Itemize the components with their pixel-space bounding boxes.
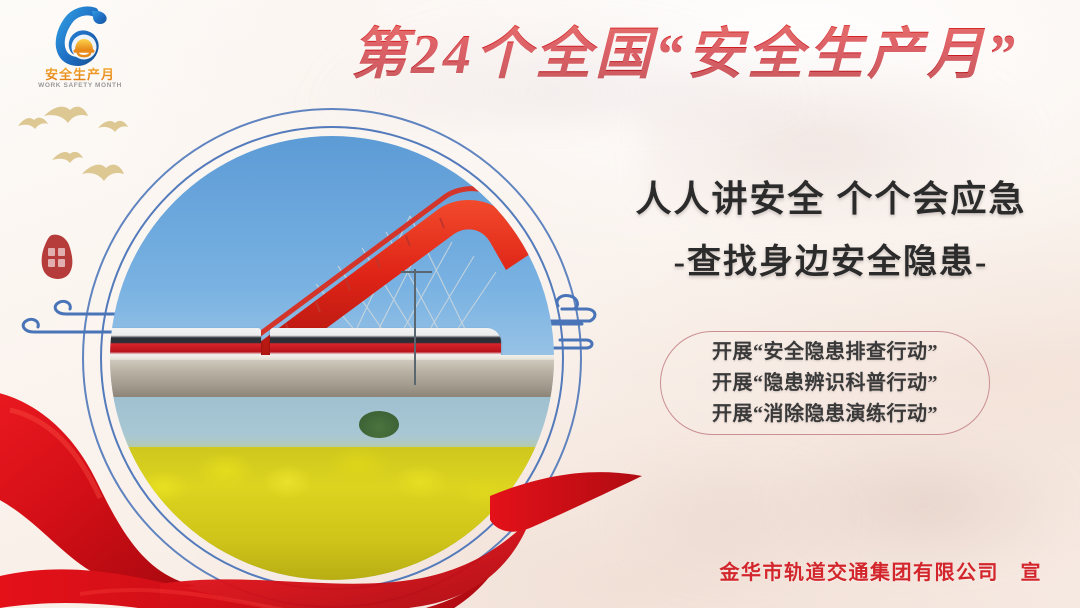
logo-chinese-text: 安全生产月 bbox=[28, 64, 132, 83]
logo-six-icon bbox=[28, 6, 132, 66]
company-credit: 金华市轨道交通集团有限公司 宣 bbox=[600, 556, 1060, 585]
safety-month-poster: 安全生产月 WORK SAFETY MONTH 第24个全国“安全生产月” bbox=[0, 0, 1080, 608]
red-silk-ribbon-icon bbox=[0, 380, 690, 608]
main-slogan: 人人讲安全 个个会应急 -查找身边安全隐患- bbox=[596, 170, 1066, 283]
action-list-box: 开展“安全隐患排查行动” 开展“隐患辨识科普行动” 开展“消除隐患演练行动” bbox=[660, 331, 990, 435]
slogan-line-2: -查找身边安全隐患- bbox=[596, 234, 1066, 283]
catenary-arm-icon bbox=[401, 271, 432, 273]
poster-title: 第24个全国“安全生产月” bbox=[300, 8, 1070, 90]
red-seal-stamp-icon bbox=[36, 232, 80, 282]
action-item-1: 开展“安全隐患排查行动” bbox=[712, 337, 938, 367]
action-item-2: 开展“隐患辨识科普行动” bbox=[712, 368, 938, 398]
work-safety-month-logo: 安全生产月 WORK SAFETY MONTH bbox=[28, 6, 132, 98]
logo-english-text: WORK SAFETY MONTH bbox=[28, 82, 132, 89]
action-item-3: 开展“消除隐患演练行动” bbox=[712, 399, 938, 429]
slogan-line-1: 人人讲安全 个个会应急 bbox=[596, 170, 1066, 222]
catenary-pole-icon bbox=[414, 269, 416, 384]
